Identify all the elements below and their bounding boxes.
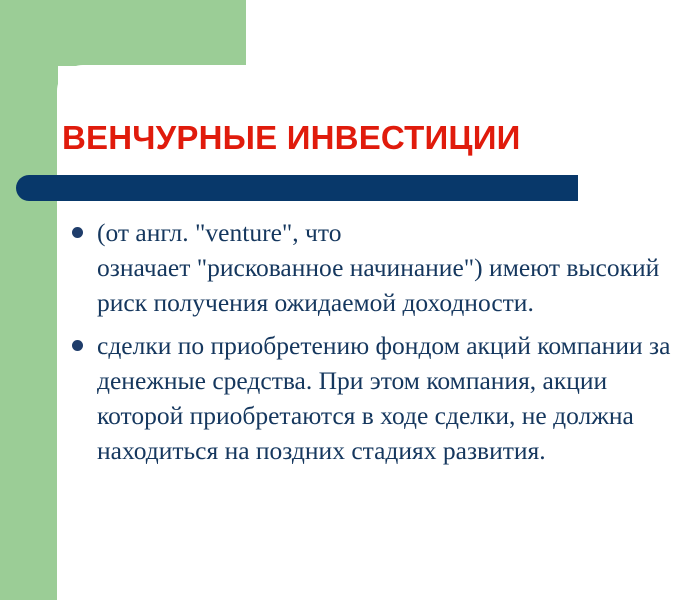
slide-title: ВЕНЧУРНЫЕ ИНВЕСТИЦИИ [62, 118, 662, 158]
green-decoration-left-strip [0, 0, 58, 600]
bullet-dot-icon [72, 340, 83, 351]
bullet-text: сделки по приобретению фондом акций комп… [97, 328, 674, 468]
presentation-slide: ВЕНЧУРНЫЕ ИНВЕСТИЦИИ (от англ. "venture"… [0, 0, 693, 600]
list-item: сделки по приобретению фондом акций комп… [64, 328, 674, 468]
title-underline-bar [16, 175, 578, 201]
bullet-list: (от англ. "venture", что означает "риско… [64, 215, 674, 476]
bullet-dot-icon [72, 227, 83, 238]
list-item: (от англ. "venture", что означает "риско… [64, 215, 674, 320]
bullet-text: (от англ. "venture", что означает "риско… [97, 215, 674, 320]
